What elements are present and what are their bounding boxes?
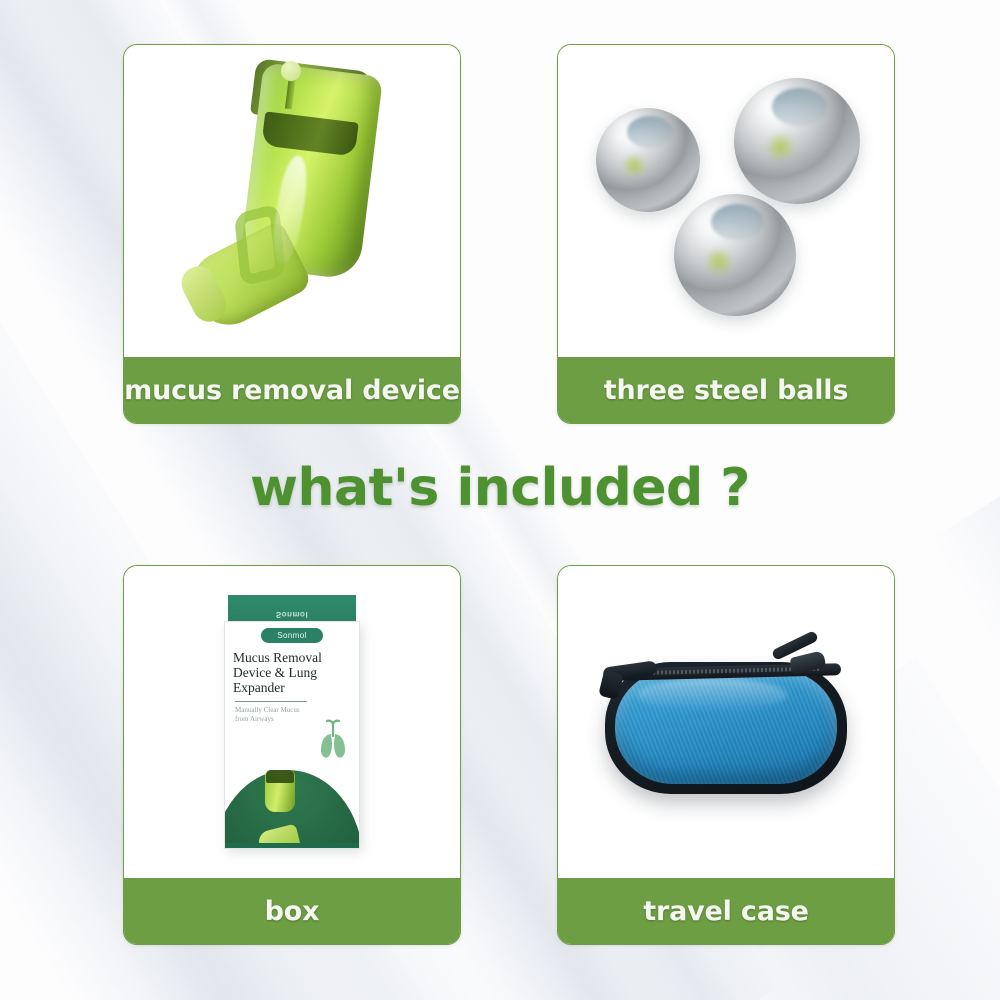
card-box: Sonmol Sonmol Mucus Removal Device & Lun… bbox=[123, 565, 461, 945]
card-media-steel-balls bbox=[558, 45, 894, 357]
box-subtitle-text: Manually Clear Mucus from Airways bbox=[235, 706, 307, 724]
box-green-circle bbox=[224, 770, 360, 849]
box-front-panel: Sonmol Mucus Removal Device & Lung Expan… bbox=[224, 621, 360, 849]
box-flap-logo-text: Sonmol bbox=[276, 610, 308, 619]
card-travel-case: travel case bbox=[557, 565, 895, 945]
steel-ball bbox=[674, 194, 796, 316]
box-device-illustration bbox=[257, 770, 303, 849]
product-box-icon: Sonmol Sonmol Mucus Removal Device & Lun… bbox=[212, 595, 372, 850]
box-device-cap bbox=[266, 770, 294, 783]
travel-case-icon bbox=[595, 634, 857, 810]
box-title-text: Mucus Removal Device & Lung Expander bbox=[233, 650, 351, 695]
box-brand-pill: Sonmol bbox=[261, 628, 323, 643]
card-media-travel-case bbox=[558, 566, 894, 878]
box-bottom-bar bbox=[225, 843, 359, 848]
card-label-mucus-removal-device: mucus removal device bbox=[124, 357, 460, 423]
card-media-device bbox=[124, 45, 460, 357]
card-label-travel-case: travel case bbox=[558, 878, 894, 944]
lungs-icon bbox=[313, 718, 353, 762]
box-divider bbox=[235, 701, 307, 702]
card-mucus-removal-device: mucus removal device bbox=[123, 44, 461, 424]
poster-root: mucus removal device three steel balls w… bbox=[0, 0, 1000, 1000]
card-label-three-steel-balls: three steel balls bbox=[558, 357, 894, 423]
card-label-box: box bbox=[124, 878, 460, 944]
steel-ball bbox=[734, 78, 860, 204]
card-media-box: Sonmol Sonmol Mucus Removal Device & Lun… bbox=[124, 566, 460, 878]
steel-ball bbox=[596, 108, 700, 212]
page-headline: what's included ? bbox=[0, 458, 1000, 518]
device-dial bbox=[281, 61, 301, 81]
case-gloss-highlight bbox=[637, 678, 787, 712]
card-three-steel-balls: three steel balls bbox=[557, 44, 895, 424]
steel-balls-icon bbox=[586, 66, 866, 336]
inhaler-device-icon bbox=[185, 59, 400, 344]
